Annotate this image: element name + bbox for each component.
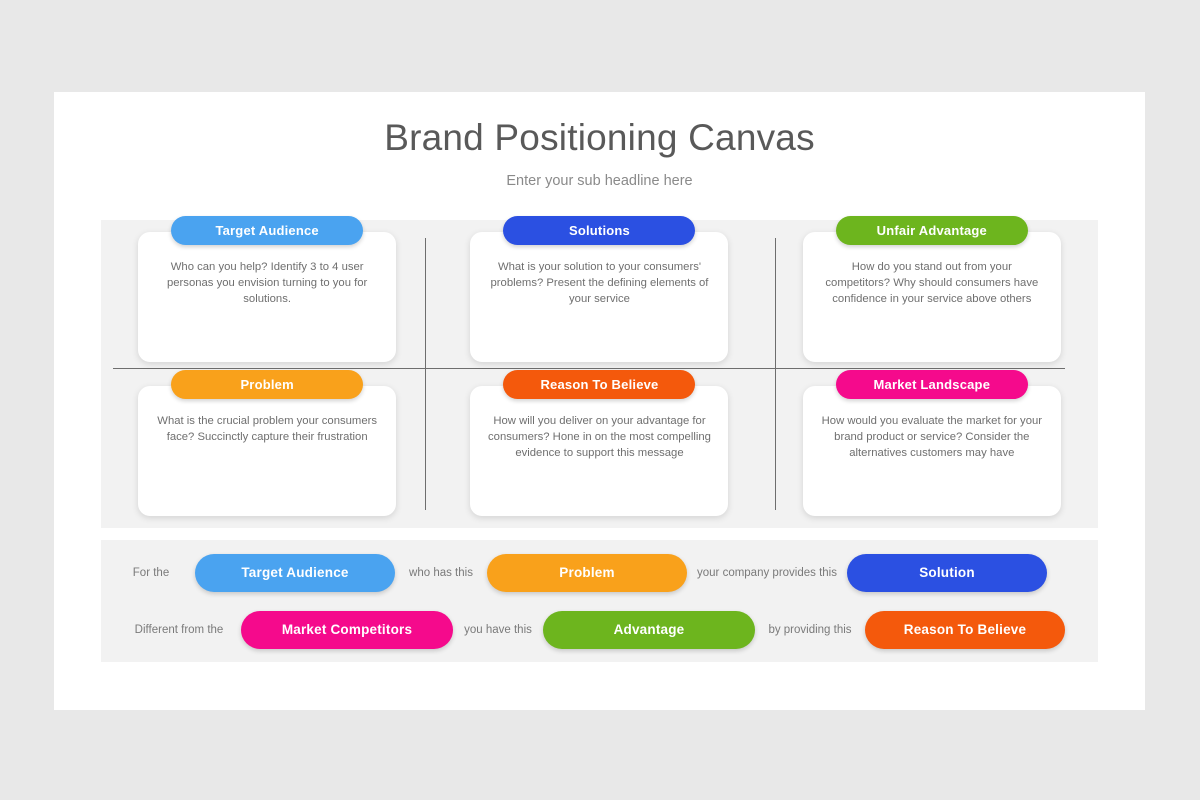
- canvas-card-target-audience[interactable]: Target Audience Who can you help? Identi…: [138, 232, 396, 362]
- page-title: Brand Positioning Canvas: [54, 118, 1145, 159]
- grid-cell-market-landscape: Market Landscape How would you evaluate …: [766, 374, 1098, 528]
- statement-connector-different-from-the: Different from the: [123, 624, 235, 636]
- grid-cell-target-audience: Target Audience Who can you help? Identi…: [101, 220, 433, 374]
- card-pill-problem[interactable]: Problem: [171, 370, 363, 399]
- canvas-grid-panel: Target Audience Who can you help? Identi…: [101, 220, 1098, 528]
- grid-cell-reason-to-believe: Reason To Believe How will you deliver o…: [433, 374, 765, 528]
- slide: Brand Positioning Canvas Enter your sub …: [54, 92, 1145, 710]
- canvas-card-reason-to-believe[interactable]: Reason To Believe How will you deliver o…: [470, 386, 728, 516]
- card-pill-solutions[interactable]: Solutions: [503, 216, 695, 245]
- statement-row-2: Different from the Market Competitors yo…: [101, 607, 1098, 653]
- card-body-solutions: What is your solution to your consumers'…: [470, 259, 728, 307]
- positioning-statement-panel: For the Target Audience who has this Pro…: [101, 540, 1098, 662]
- canvas-card-unfair-advantage[interactable]: Unfair Advantage How do you stand out fr…: [803, 232, 1061, 362]
- canvas-card-solutions[interactable]: Solutions What is your solution to your …: [470, 232, 728, 362]
- canvas-card-problem[interactable]: Problem What is the crucial problem your…: [138, 386, 396, 516]
- statement-pill-advantage[interactable]: Advantage: [543, 611, 755, 649]
- statement-pill-reason-to-believe[interactable]: Reason To Believe: [865, 611, 1065, 649]
- card-pill-unfair-advantage[interactable]: Unfair Advantage: [836, 216, 1028, 245]
- card-body-market-landscape: How would you evaluate the market for yo…: [803, 413, 1061, 461]
- statement-connector-for-the: For the: [123, 567, 179, 579]
- statement-connector-by-providing-this: by providing this: [755, 624, 865, 636]
- grid-cell-solutions: Solutions What is your solution to your …: [433, 220, 765, 374]
- card-body-target-audience: Who can you help? Identify 3 to 4 user p…: [138, 259, 396, 307]
- card-body-reason-to-believe: How will you deliver on your advantage f…: [470, 413, 728, 461]
- card-body-unfair-advantage: How do you stand out from your competito…: [803, 259, 1061, 307]
- canvas-card-grid: Target Audience Who can you help? Identi…: [101, 220, 1098, 528]
- canvas-card-market-landscape[interactable]: Market Landscape How would you evaluate …: [803, 386, 1061, 516]
- statement-pill-problem[interactable]: Problem: [487, 554, 687, 592]
- statement-pill-target-audience[interactable]: Target Audience: [195, 554, 395, 592]
- statement-connector-you-have-this: you have this: [453, 624, 543, 636]
- statement-connector-who-has-this: who has this: [395, 567, 487, 579]
- card-pill-market-landscape[interactable]: Market Landscape: [836, 370, 1028, 399]
- grid-cell-problem: Problem What is the crucial problem your…: [101, 374, 433, 528]
- statement-connector-company-provides: your company provides this: [687, 567, 847, 579]
- grid-cell-unfair-advantage: Unfair Advantage How do you stand out fr…: [766, 220, 1098, 374]
- statement-pill-solution[interactable]: Solution: [847, 554, 1047, 592]
- card-pill-reason-to-believe[interactable]: Reason To Believe: [503, 370, 695, 399]
- statement-pill-market-competitors[interactable]: Market Competitors: [241, 611, 453, 649]
- slide-header: Brand Positioning Canvas Enter your sub …: [54, 92, 1145, 189]
- page-subtitle: Enter your sub headline here: [54, 173, 1145, 189]
- card-pill-target-audience[interactable]: Target Audience: [171, 216, 363, 245]
- card-body-problem: What is the crucial problem your consume…: [138, 413, 396, 445]
- statement-row-1: For the Target Audience who has this Pro…: [101, 550, 1098, 596]
